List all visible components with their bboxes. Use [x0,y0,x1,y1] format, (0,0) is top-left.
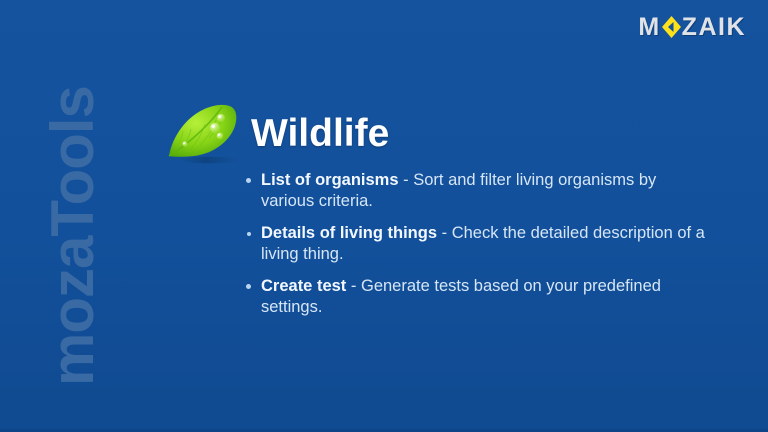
leaf-icon [163,98,245,170]
mozatools-watermark: mozaTools [40,26,106,386]
bullet-icon [246,178,251,183]
feature-item-details-of-living-things: Details of living things - Check the det… [243,223,713,265]
feature-list: List of organisms - Sort and filter livi… [243,170,713,333]
feature-item-create-test: Create test - Generate tests based on yo… [243,276,713,318]
feature-separator: - [403,171,409,189]
feature-separator: - [351,277,357,295]
bullet-icon [246,284,251,289]
bullet-icon [247,232,251,236]
logo-text-left: M [638,14,660,40]
feature-separator: - [442,224,448,242]
page-title: Wildlife [251,112,389,156]
mozaik-logo: M ZAIK [638,14,746,40]
slide-canvas: mozaTools M ZAIK [0,0,768,432]
feature-term: Details of living things [261,224,437,242]
feature-item-list-of-organisms: List of organisms - Sort and filter livi… [243,170,713,212]
logo-text-right: ZAIK [682,14,746,40]
page-header: Wildlife [163,98,389,170]
diamond-icon [662,16,681,38]
feature-term: Create test [261,277,346,295]
feature-term: List of organisms [261,171,399,189]
